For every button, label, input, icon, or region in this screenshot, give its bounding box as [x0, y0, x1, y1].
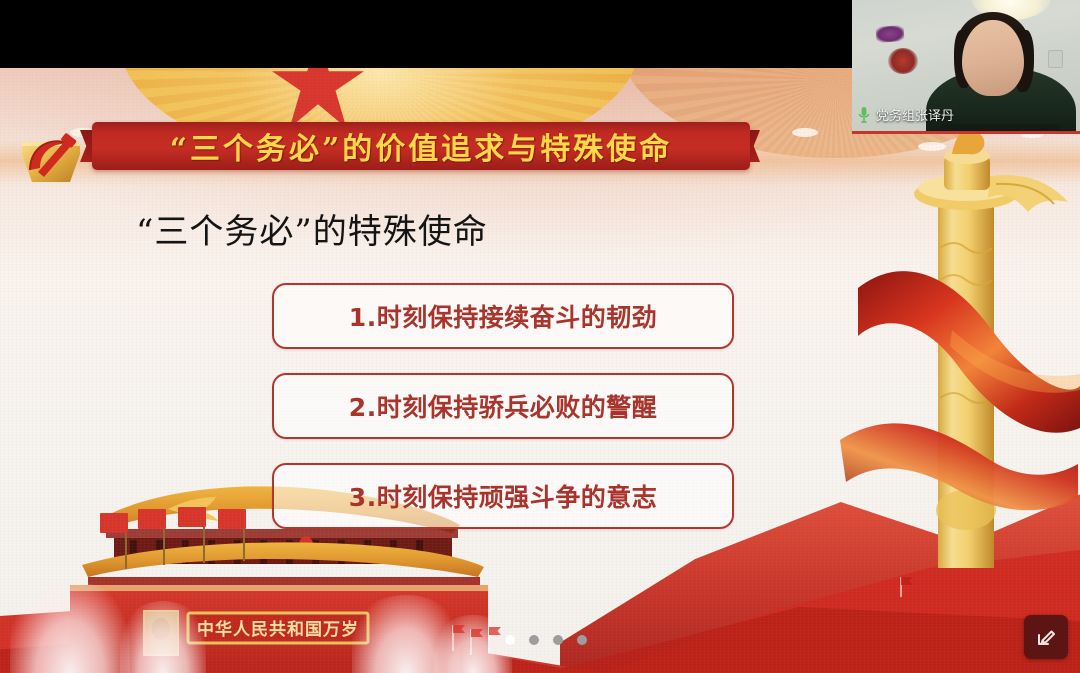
page-dot-4[interactable] [577, 635, 587, 645]
bullet-item-3-label: 3.时刻保持顽强斗争的意志 [349, 478, 657, 514]
bullet-item-1-label: 1.时刻保持接续奋斗的韧劲 [349, 298, 657, 334]
participant-name-bar: 党务组张译丹 [852, 103, 962, 126]
bullet-item-2[interactable]: 2.时刻保持骄兵必败的警醒 [272, 373, 734, 439]
svg-text:中华人民共和国万岁: 中华人民共和国万岁 [197, 619, 359, 640]
fountain-spray [120, 601, 206, 673]
participant-name-label: 党务组张译丹 [876, 105, 954, 124]
party-emblem-icon [8, 112, 94, 198]
fountain-spray [434, 615, 512, 673]
pagination-dots[interactable] [505, 635, 587, 645]
bullet-item-1[interactable]: 1.时刻保持接续奋斗的韧劲 [272, 283, 734, 349]
presentation-slide: “三个务必”的价值追求与特殊使命 “三个务必”的特殊使命 [0, 68, 1080, 673]
bullet-item-2-label: 2.时刻保持骄兵必败的警醒 [349, 388, 657, 424]
fountain-spray [10, 581, 130, 673]
huabiao-column-icon [840, 98, 1080, 568]
video-tile-border [852, 131, 1080, 134]
bullet-list: 1.时刻保持接续奋斗的韧劲 2.时刻保持骄兵必败的警醒 3.时刻保持顽强斗争的意… [272, 283, 730, 553]
annotate-button[interactable] [1024, 615, 1068, 659]
cloud-dot [792, 128, 818, 137]
screen-share-viewport: “三个务必”的价值追求与特殊使命 “三个务必”的特殊使命 [0, 0, 1080, 673]
page-dot-2[interactable] [529, 635, 539, 645]
slide-subtitle: “三个务必”的特殊使命 [136, 204, 488, 253]
page-dot-3[interactable] [553, 635, 563, 645]
participant-face [962, 20, 1024, 96]
wall-decoration [888, 48, 918, 74]
slide-title-banner: “三个务必”的价值追求与特殊使命 [92, 122, 750, 170]
pencil-annotate-icon [1034, 625, 1058, 649]
page-dot-1[interactable] [505, 635, 515, 645]
wall-decoration [875, 25, 904, 43]
wall-outlet [1048, 50, 1063, 68]
bullet-item-3[interactable]: 3.时刻保持顽强斗争的意志 [272, 463, 734, 529]
microphone-icon [858, 106, 870, 124]
slide-title-text: “三个务必”的价值追求与特殊使命 [170, 124, 673, 168]
participant-video-tile[interactable]: 党务组张译丹 [852, 0, 1080, 134]
